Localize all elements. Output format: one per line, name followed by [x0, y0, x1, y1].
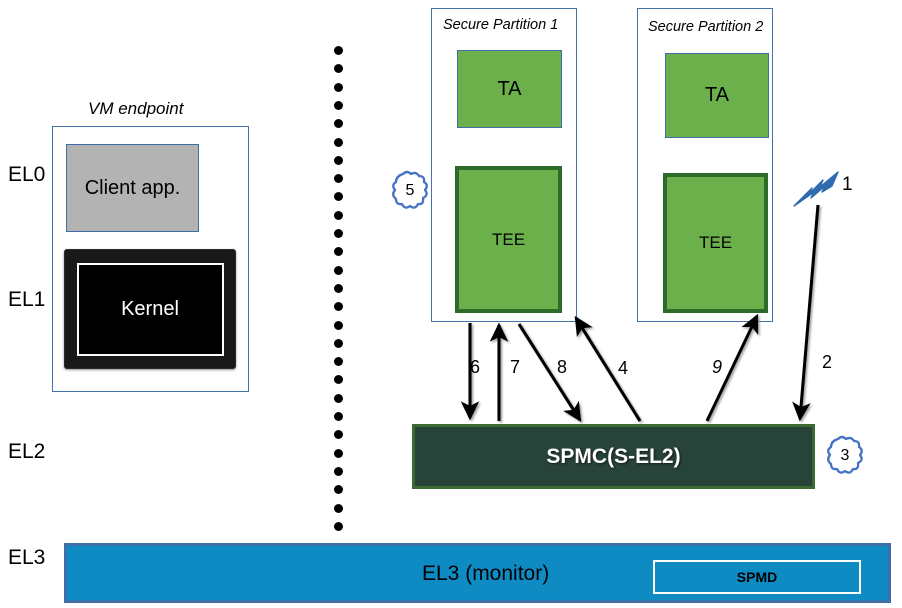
divider-dot: [334, 412, 343, 421]
divider-dot: [334, 321, 343, 330]
divider-dot: [334, 174, 343, 183]
divider-dot: [334, 284, 343, 293]
client-app-box: Client app.: [66, 144, 199, 232]
divider-dot: [334, 339, 343, 348]
el3-monitor-label: EL3 (monitor): [422, 562, 549, 586]
level-label-el0: EL0: [8, 163, 45, 187]
flow-label-9: 9: [712, 357, 722, 378]
divider-dot: [334, 101, 343, 110]
divider-dot: [334, 229, 343, 238]
flow-label-6: 6: [470, 357, 480, 378]
sp2-ta-box: TA: [665, 53, 769, 138]
vm-endpoint-title: VM endpoint: [88, 99, 183, 119]
callout-badge-3: 3: [825, 434, 865, 478]
spmd-box: SPMD: [653, 560, 861, 594]
diagram-canvas: EL0 EL1 EL2 EL3 VM endpoint Client app. …: [0, 0, 902, 608]
divider-dot: [334, 156, 343, 165]
divider-dot: [334, 119, 343, 128]
callout-badge-5-text: 5: [406, 183, 415, 199]
flow-label-2: 2: [822, 352, 832, 373]
callout-badge-3-text: 3: [841, 448, 850, 464]
spmc-bar: SPMC(S-EL2): [412, 424, 815, 489]
divider-dot: [334, 430, 343, 439]
divider-dot: [334, 394, 343, 403]
callout-badge-5: 5: [390, 169, 430, 213]
divider-dot: [334, 266, 343, 275]
secure-partition-2-title: Secure Partition 2: [648, 19, 763, 35]
divider-dot: [334, 138, 343, 147]
divider-dot: [334, 449, 343, 458]
level-label-el3: EL3: [8, 546, 45, 570]
kernel-inner-box: Kernel: [77, 263, 224, 356]
kernel-box: Kernel: [64, 249, 236, 369]
el3-monitor-bar: EL3 (monitor) SPMD: [64, 543, 891, 603]
sp2-tee-box: TEE: [663, 173, 768, 313]
divider-dot: [334, 46, 343, 55]
divider-dot: [334, 357, 343, 366]
flow-label-4: 4: [618, 358, 628, 379]
divider-dot: [334, 467, 343, 476]
flow-label-8: 8: [557, 357, 567, 378]
sp1-tee-box: TEE: [455, 166, 562, 313]
divider-dot: [334, 375, 343, 384]
divider-dot: [334, 192, 343, 201]
divider-dot: [334, 64, 343, 73]
divider-dot: [334, 211, 343, 220]
divider-dot: [334, 504, 343, 513]
divider-dot: [334, 485, 343, 494]
level-label-el2: EL2: [8, 440, 45, 464]
secure-partition-1-title: Secure Partition 1: [443, 17, 558, 33]
divider-dot: [334, 83, 343, 92]
divider-dot: [334, 247, 343, 256]
interrupt-label-1: 1: [842, 174, 853, 196]
flow-label-7: 7: [510, 357, 520, 378]
sp1-ta-box: TA: [457, 50, 562, 128]
level-label-el1: EL1: [8, 288, 45, 312]
divider-dot: [334, 302, 343, 311]
divider-dot: [334, 522, 343, 531]
